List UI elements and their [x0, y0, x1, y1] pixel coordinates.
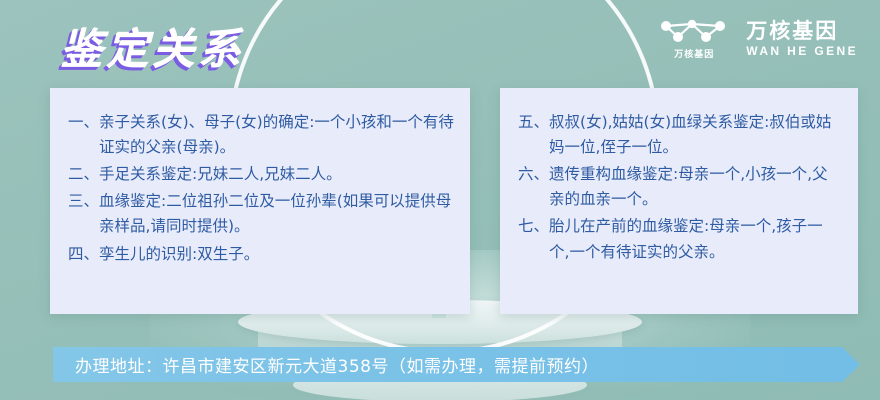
list-item-number: 四、: [68, 242, 99, 267]
brand-mark: 万核基因: [658, 18, 730, 60]
list-item: 六、 遗传重构血缘鉴定:母亲一个,小孩一个,父亲的血亲一个。: [518, 162, 842, 212]
brand-words: 万核基因 WAN HE GENE: [746, 20, 858, 58]
relations-card-right: 五、 叔叔(女),姑姑(女)血绿关系鉴定:叔伯或姑妈一位,侄子一位。 六、 遗传…: [500, 88, 858, 314]
list-item-number: 三、: [68, 189, 99, 214]
brand-name-en: WAN HE GENE: [746, 45, 858, 58]
page-title: 鉴定关系: [60, 16, 244, 77]
address-banner: 办理地址：许昌市建安区新元大道358号（如需办理，需提前预约）: [53, 347, 860, 382]
brand-logo: 万核基因 万核基因 WAN HE GENE: [658, 18, 858, 60]
list-item-text: 手足关系鉴定:兄妹二人,兄妹二人。: [99, 162, 454, 187]
address-text: 办理地址：许昌市建安区新元大道358号（如需办理，需提前预约）: [75, 352, 599, 377]
brand-name-cn: 万核基因: [746, 20, 858, 43]
list-item-number: 七、: [518, 214, 549, 239]
list-item: 七、 胎儿在产前的血缘鉴定:母亲一个,孩子一个,一个有待证实的父亲。: [518, 214, 842, 264]
relations-card-left: 一、 亲子关系(女)、母子(女)的确定:一个小孩和一个有待证实的父亲(母亲)。 …: [50, 88, 470, 314]
list-item-text: 亲子关系(女)、母子(女)的确定:一个小孩和一个有待证实的父亲(母亲)。: [99, 110, 454, 160]
list-item: 二、 手足关系鉴定:兄妹二人,兄妹二人。: [68, 162, 454, 187]
list-item-text: 胎儿在产前的血缘鉴定:母亲一个,孩子一个,一个有待证实的父亲。: [549, 214, 842, 264]
poster-root: 鉴定关系: [0, 0, 880, 400]
gene-network-icon: [658, 18, 730, 44]
list-item-text: 遗传重构血缘鉴定:母亲一个,小孩一个,父亲的血亲一个。: [549, 162, 842, 212]
list-item: 四、 孪生儿的识别:双生子。: [68, 242, 454, 267]
list-item: 三、 血缘鉴定:二位祖孙二位及一位孙辈(如果可以提供母亲样品,请同时提供)。: [68, 189, 454, 239]
list-item: 五、 叔叔(女),姑姑(女)血绿关系鉴定:叔伯或姑妈一位,侄子一位。: [518, 110, 842, 160]
brand-mark-label: 万核基因: [674, 47, 714, 60]
relations-list-right: 五、 叔叔(女),姑姑(女)血绿关系鉴定:叔伯或姑妈一位,侄子一位。 六、 遗传…: [518, 110, 842, 265]
list-item: 一、 亲子关系(女)、母子(女)的确定:一个小孩和一个有待证实的父亲(母亲)。: [68, 110, 454, 160]
list-item-text: 孪生儿的识别:双生子。: [99, 242, 454, 267]
list-item-number: 一、: [68, 110, 99, 135]
list-item-text: 叔叔(女),姑姑(女)血绿关系鉴定:叔伯或姑妈一位,侄子一位。: [549, 110, 842, 160]
list-item-text: 血缘鉴定:二位祖孙二位及一位孙辈(如果可以提供母亲样品,请同时提供)。: [99, 189, 454, 239]
list-item-number: 六、: [518, 162, 549, 187]
relations-list-left: 一、 亲子关系(女)、母子(女)的确定:一个小孩和一个有待证实的父亲(母亲)。 …: [68, 110, 454, 267]
list-item-number: 二、: [68, 162, 99, 187]
list-item-number: 五、: [518, 110, 549, 135]
